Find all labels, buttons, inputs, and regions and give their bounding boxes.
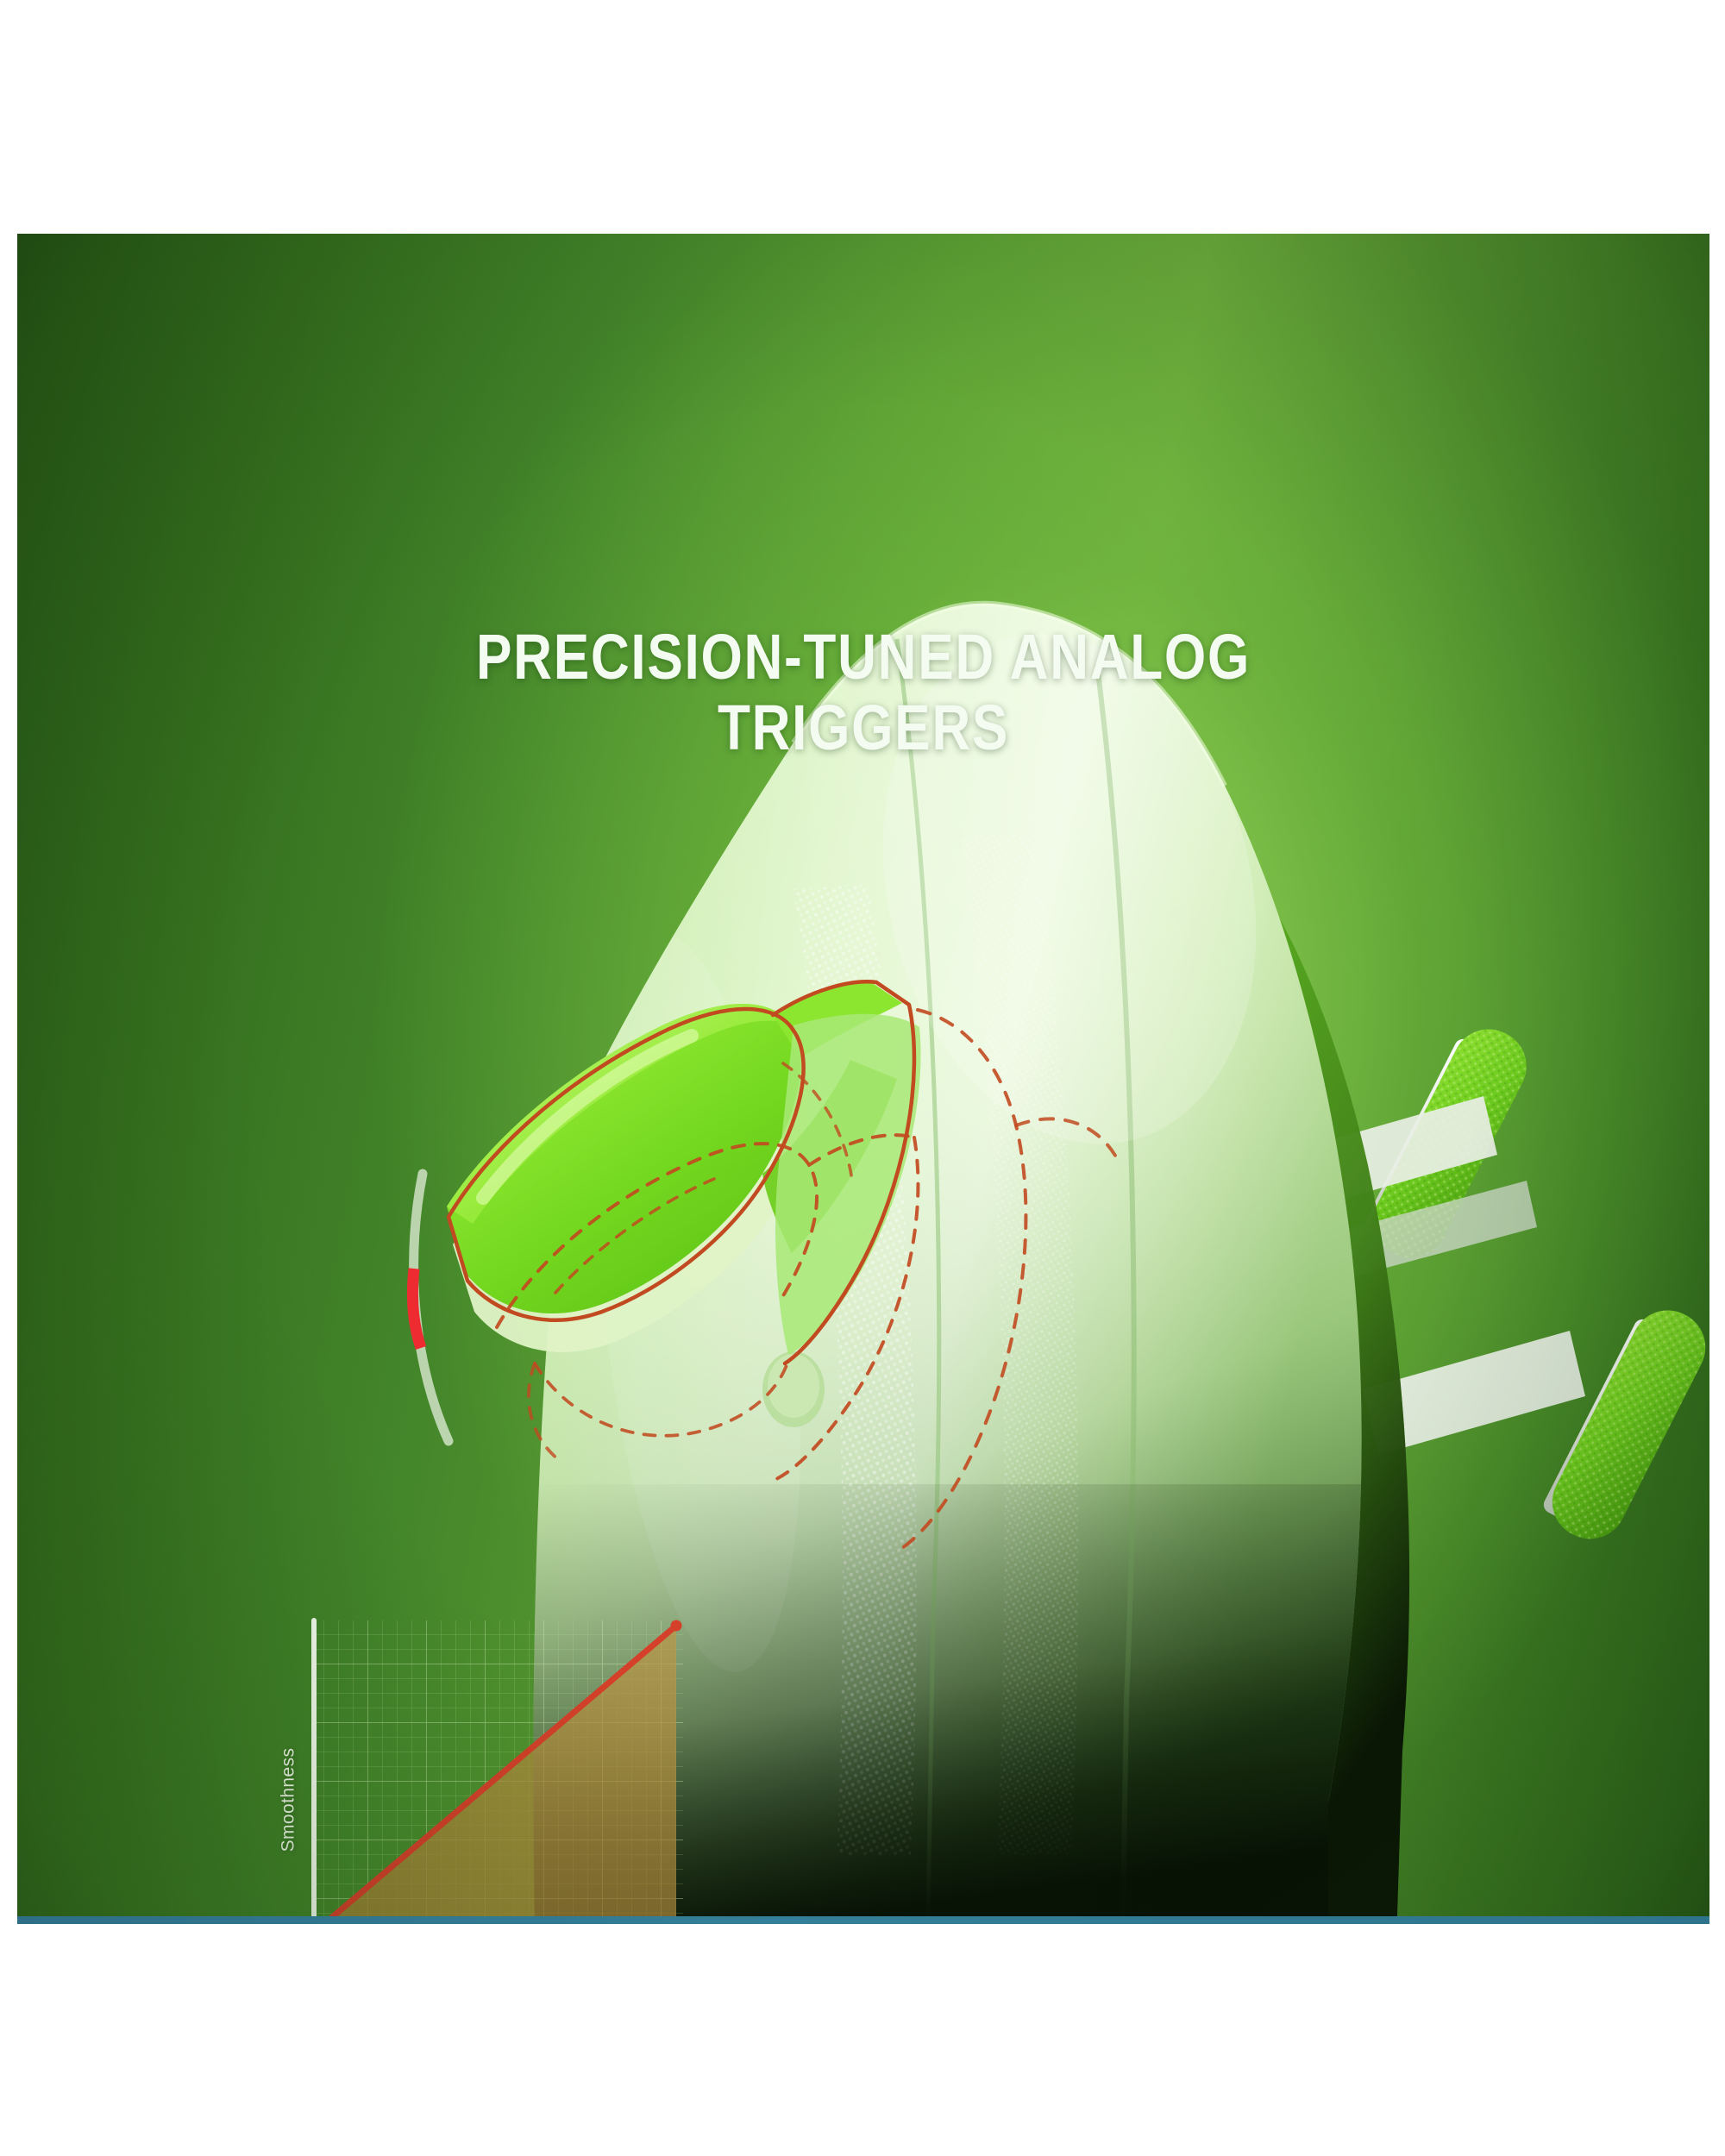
image-canvas: PRECISION-TUNED ANALOG TRIGGERS (0, 0, 1725, 2156)
chart-y-axis-label: Smoothness (278, 1748, 298, 1852)
trigger-travel-arc (412, 1174, 448, 1441)
promo-panel: PRECISION-TUNED ANALOG TRIGGERS (17, 234, 1709, 1916)
response-chart: Smoothness Response Area Precise Control (250, 1605, 699, 1916)
chart-endpoint-marker (671, 1620, 682, 1632)
rear-paddle-upper (1361, 1017, 1539, 1270)
bottom-accent-strip (17, 1916, 1709, 1924)
page-title: PRECISION-TUNED ANALOG TRIGGERS (153, 622, 1574, 765)
controller-right-flank (1190, 837, 1409, 1916)
rear-paddle-rail (1302, 1096, 1585, 1455)
shoulder-bumper (835, 874, 1000, 1001)
rear-paddle-lower (1540, 1298, 1709, 1551)
trigger-annotation-overlay (448, 981, 1118, 1551)
analog-trigger (447, 982, 921, 1355)
